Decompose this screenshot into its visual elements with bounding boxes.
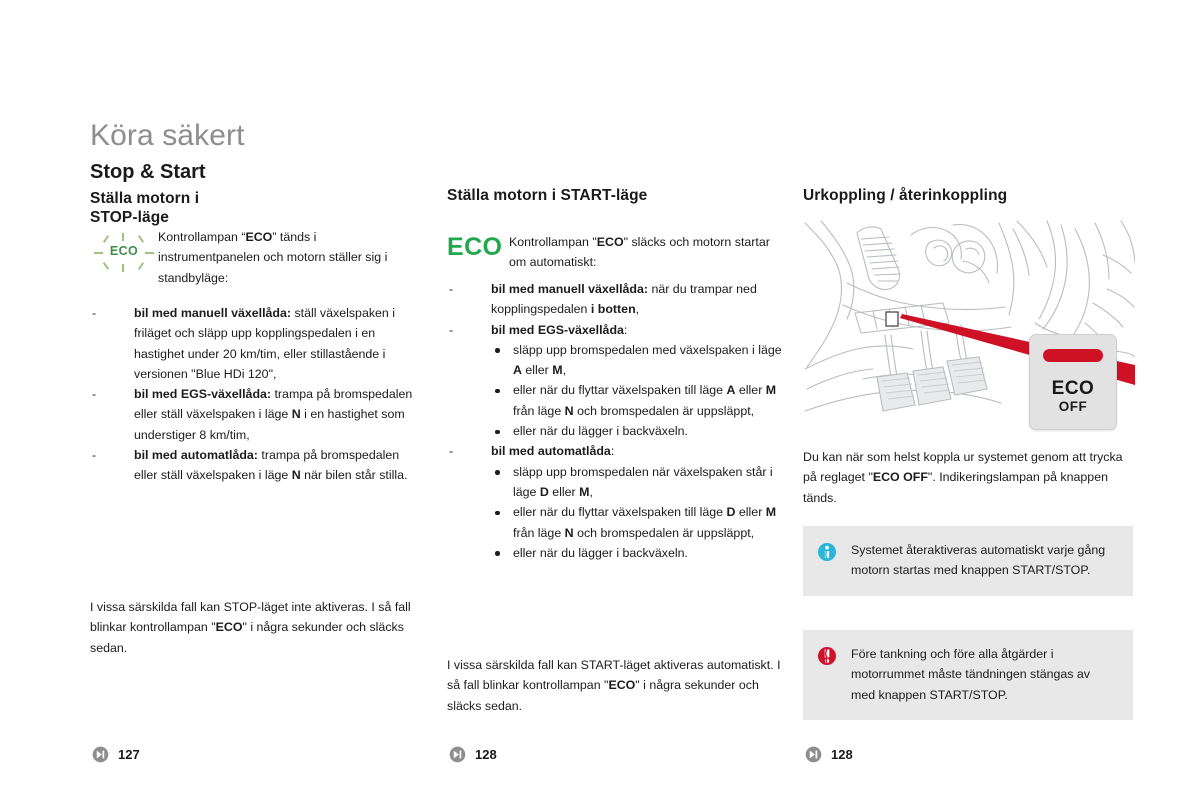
sub-list-item: släpp upp bromspedalen med växelspaken i… [491, 340, 787, 381]
sub-list: släpp upp bromspedalen med växelspaken i… [491, 340, 787, 441]
manual-page: Köra säkert Stop & Start Ställa motorn i… [0, 0, 1200, 800]
column1-page-reference[interactable]: 127 [92, 746, 140, 763]
page-number: 127 [118, 747, 140, 762]
column2-intro-text: Kontrollampan "ECO" släcks och motorn st… [509, 232, 782, 273]
eco-wordmark-icon: ECO [447, 234, 509, 273]
info-note-box: Systemet återaktiveras automatiskt varje… [803, 526, 1133, 596]
column1-bullet-list: bil med manuell växellåda: ställ växelsp… [90, 303, 425, 486]
warning-icon [817, 644, 851, 705]
column2-closing-paragraph: I vissa särskilda fall kan START-läget a… [447, 655, 782, 716]
page-number: 128 [831, 747, 853, 762]
column2-bullet-list: bil med manuell växellåda: när du trampa… [447, 279, 787, 563]
page-jump-icon [449, 746, 466, 763]
warning-note-text: Före tankning och före alla åtgärder i m… [851, 644, 1117, 705]
column2-page-reference[interactable]: 128 [449, 746, 497, 763]
page-jump-icon [92, 746, 109, 763]
page-jump-icon [805, 746, 822, 763]
eco-off-label-top: ECO [1030, 378, 1116, 400]
column2-intro: ECO Kontrollampan "ECO" släcks och motor… [447, 232, 782, 273]
list-item: bil med manuell växellåda: när du trampa… [447, 279, 787, 320]
eco-indicator-lamp-icon: ECO [90, 231, 158, 277]
list-item-lead: bil med automatlåda: [491, 444, 614, 458]
eco-off-button-callout[interactable]: ECO OFF [1029, 334, 1117, 430]
chapter-title: Köra säkert [90, 119, 245, 153]
sub-list-item: eller när du lägger i backväxeln. [491, 543, 787, 563]
column3-paragraph: Du kan när som helst koppla ur systemet … [803, 447, 1133, 508]
column3-heading: Urkoppling / återinkoppling [803, 186, 1138, 205]
column1-closing-paragraph: I vissa särskilda fall kan STOP-läget in… [90, 597, 420, 658]
list-item: bil med automatlåda: trampa på bromspeda… [90, 445, 425, 486]
list-item-lead: bil med EGS-växellåda: [491, 323, 627, 337]
column3-page-reference[interactable]: 128 [805, 746, 853, 763]
sub-list-item: släpp upp bromspedalen när växelspaken s… [491, 462, 787, 503]
sub-list-item: eller när du flyttar växelspaken till lä… [491, 502, 787, 543]
column1-heading-line2: STOP-läge [90, 208, 420, 227]
list-item: bil med manuell växellåda: ställ växelsp… [90, 303, 425, 384]
warning-note-box: Före tankning och före alla åtgärder i m… [803, 630, 1133, 720]
list-item-lead: bil med manuell växellåda: när du trampa… [491, 282, 757, 316]
column1-intro: ECO Kontrollampan “ECO” tänds i instrume… [90, 227, 420, 288]
column1-heading-line1: Ställa motorn i [90, 189, 420, 208]
sub-list: släpp upp bromspedalen när växelspaken s… [491, 462, 787, 563]
list-item: bil med EGS-växellåda: trampa på bromspe… [90, 384, 425, 445]
column2-heading: Ställa motorn i START-läge [447, 186, 782, 205]
column1-heading: Ställa motorn i STOP-läge [90, 189, 420, 227]
page-number: 128 [475, 747, 497, 762]
eco-off-indicator-led [1043, 349, 1103, 362]
sub-list-item: eller när du flyttar växelspaken till lä… [491, 380, 787, 421]
info-icon [817, 540, 851, 581]
eco-lamp-label: ECO [102, 244, 146, 258]
list-item: bil med EGS-växellåda: släpp upp bromspe… [447, 320, 787, 442]
eco-off-label-bottom: OFF [1030, 399, 1116, 414]
list-item: bil med automatlåda: släpp upp bromspeda… [447, 441, 787, 563]
sub-list-item: eller när du lägger i backväxeln. [491, 421, 787, 441]
info-note-text: Systemet återaktiveras automatiskt varje… [851, 540, 1117, 581]
column1-intro-text: Kontrollampan “ECO” tänds i instrumentpa… [158, 227, 420, 288]
section-title: Stop & Start [90, 160, 206, 184]
